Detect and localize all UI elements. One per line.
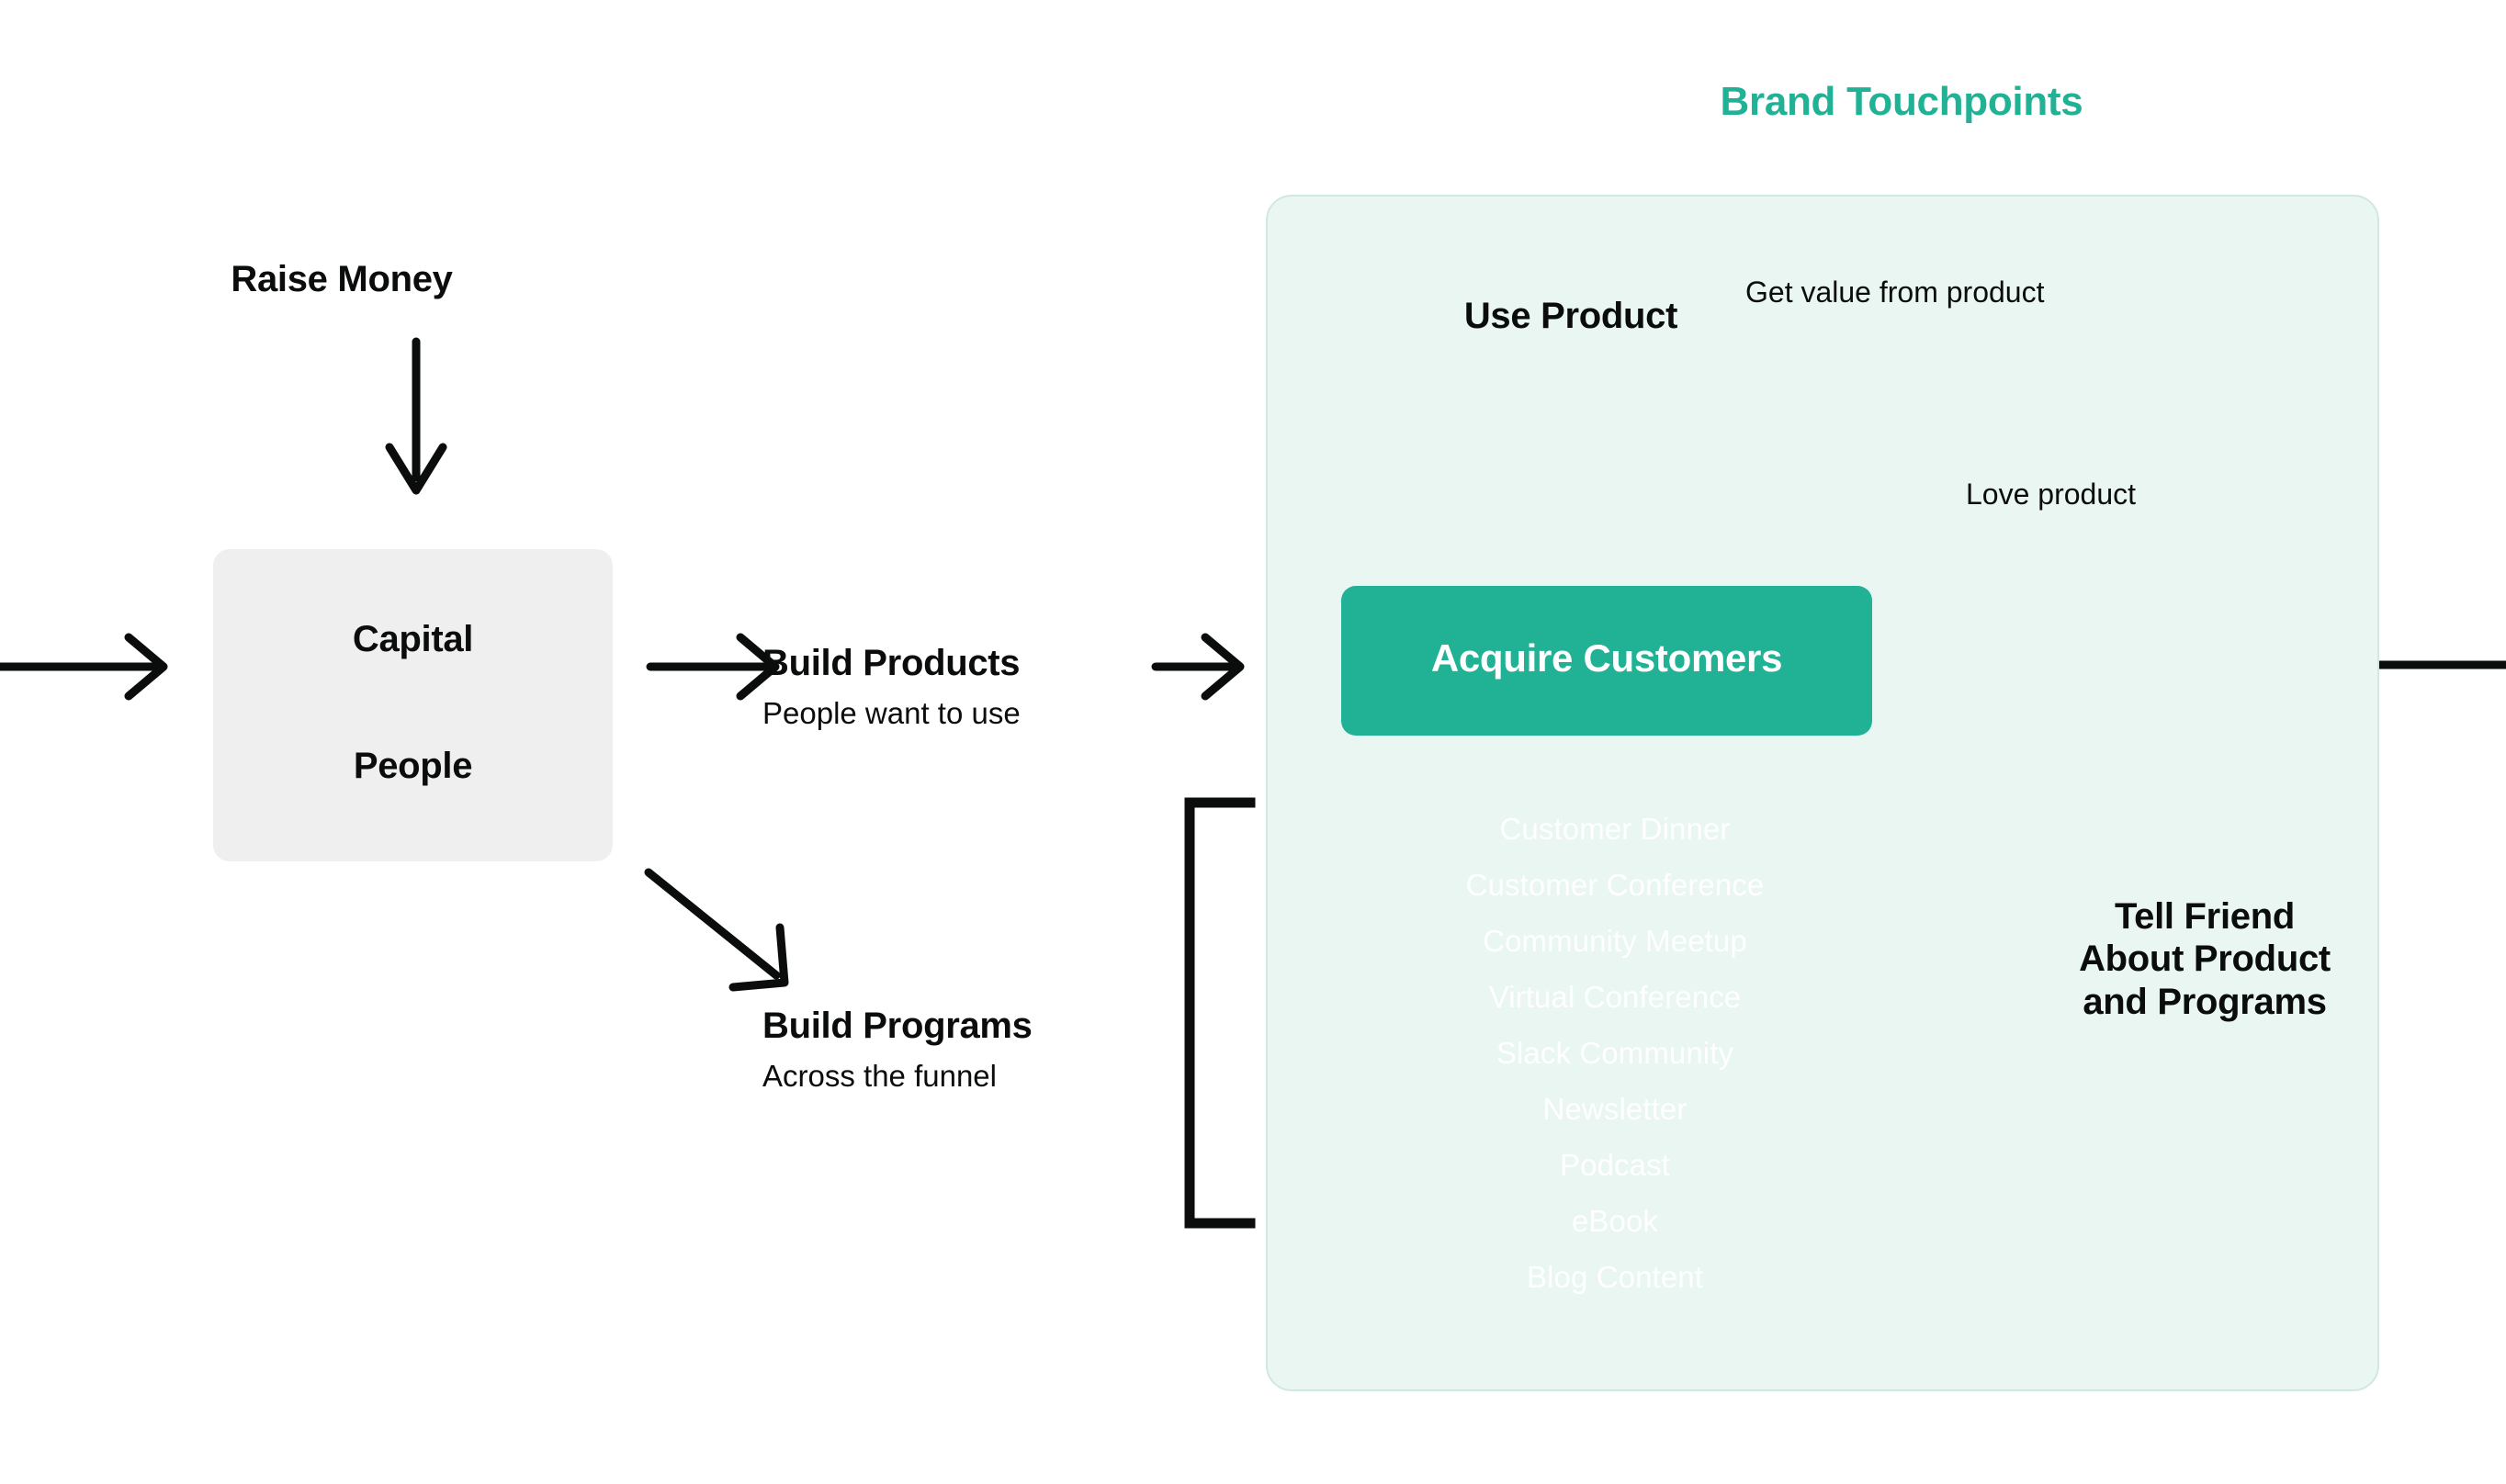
capital-to-products-arrow-icon (650, 637, 775, 696)
get-value-from-product-label: Get value from product (1745, 275, 2168, 309)
use-product-label: Use Product (1378, 296, 1764, 337)
tell-friend-line-3: and Programs (2003, 981, 2407, 1023)
diagram-canvas: Brand Touchpoints Raise Money Capital Pe… (0, 0, 2506, 1484)
build-products-title: Build Products (762, 643, 1185, 684)
capital-to-programs-arrow-icon (649, 872, 785, 987)
funnel-item: Community Meetup (1353, 913, 1877, 969)
page-title: Brand Touchpoints (1644, 79, 2159, 125)
tell-friend-line-2: About Product (2003, 938, 2407, 980)
inbound-arrow-icon (0, 637, 164, 696)
funnel-item: Customer Conference (1353, 857, 1877, 913)
raise-money-arrow-icon (389, 342, 443, 490)
funnel-item: Virtual Conference (1353, 969, 1877, 1025)
raise-money-label: Raise Money (213, 259, 470, 300)
acquire-customers-label: Acquire Customers (1341, 636, 1872, 680)
build-programs-title: Build Programs (762, 1006, 1222, 1047)
build-products-subtitle: People want to use (762, 696, 1185, 731)
funnel-item: eBook (1353, 1193, 1877, 1249)
funnel-item-list: Customer Dinner Customer Conference Comm… (1353, 801, 1877, 1305)
funnel-item: Slack Community (1353, 1025, 1877, 1081)
funnel-item: Blog Content (1353, 1249, 1877, 1305)
funnel-item: Customer Dinner (1353, 801, 1877, 857)
tell-friend-line-1: Tell Friend (2003, 895, 2407, 938)
people-label: People (213, 746, 613, 787)
love-product-label: Love product (1966, 478, 2269, 512)
tell-friend-label: Tell Friend About Product and Programs (2003, 895, 2407, 1023)
capital-label: Capital (213, 619, 613, 660)
funnel-item: Newsletter (1353, 1081, 1877, 1137)
funnel-item: Podcast (1353, 1137, 1877, 1193)
capital-people-box (213, 549, 613, 861)
build-programs-subtitle: Across the funnel (762, 1059, 1222, 1094)
